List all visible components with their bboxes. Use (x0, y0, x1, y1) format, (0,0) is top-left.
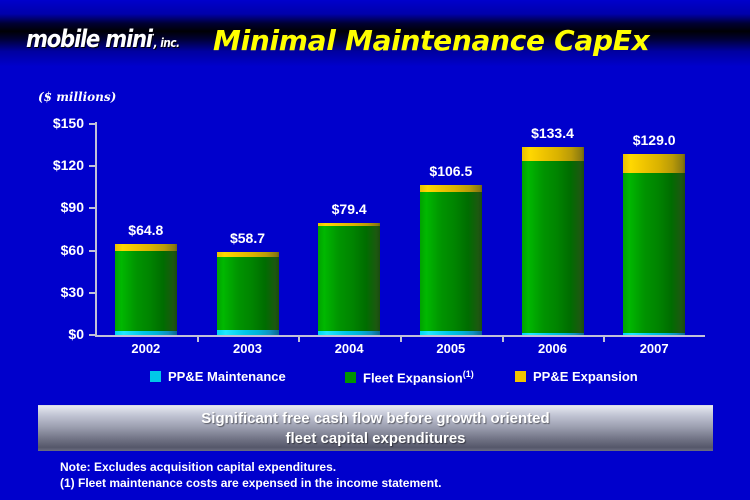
bar-segment[interactable] (115, 244, 177, 251)
bar-group[interactable]: $58.7 (217, 252, 279, 335)
legend-footnote-marker: (1) (463, 369, 474, 379)
slide-header: mobile mini·, inc. Minimal Maintenance C… (0, 0, 750, 78)
x-axis-category-label: 2007 (603, 341, 705, 356)
bar-group[interactable]: $79.4 (318, 223, 380, 335)
bar-segment[interactable] (420, 185, 482, 191)
legend-label: Fleet Expansion(1) (363, 369, 474, 385)
legend-item[interactable]: PP&E Maintenance (150, 369, 286, 384)
bar-segment[interactable] (420, 331, 482, 335)
x-axis-category-label: 2006 (502, 341, 604, 356)
footnote-line: Note: Excludes acquisition capital expen… (60, 459, 441, 475)
bar-total-label: $106.5 (420, 163, 482, 179)
bar-segment[interactable] (115, 251, 177, 331)
callout-banner: Significant free cash flow before growth… (38, 405, 713, 451)
y-axis-tick-label: $60 (0, 242, 84, 258)
bar-segment[interactable] (623, 154, 685, 174)
bar-segment[interactable] (623, 173, 685, 333)
bar-total-label: $129.0 (623, 132, 685, 148)
y-axis-tick-label: $0 (0, 326, 84, 342)
logo-wordmark: mobile mini (26, 25, 152, 53)
bar-segment[interactable] (217, 252, 279, 257)
x-axis-category-label: 2003 (197, 341, 299, 356)
legend-swatch-icon (150, 371, 161, 382)
legend-label: PP&E Expansion (533, 369, 638, 384)
bar-total-label: $64.8 (115, 222, 177, 238)
chart-legend: PP&E MaintenanceFleet Expansion(1)PP&E E… (95, 369, 705, 391)
bar-segment[interactable] (318, 226, 380, 331)
banner-line-2: fleet capital expenditures (285, 429, 465, 449)
footnotes: Note: Excludes acquisition capital expen… (60, 459, 441, 491)
x-axis-category-label: 2002 (95, 341, 197, 356)
legend-swatch-icon (515, 371, 526, 382)
bar-group[interactable]: $106.5 (420, 185, 482, 335)
legend-item[interactable]: PP&E Expansion (515, 369, 638, 384)
company-logo: mobile mini·, inc. (26, 25, 179, 53)
y-axis-tick-label: $90 (0, 199, 84, 215)
y-axis-tick-label: $150 (0, 115, 84, 131)
bar-total-label: $58.7 (217, 230, 279, 246)
banner-line-1: Significant free cash flow before growth… (201, 409, 549, 429)
bar-segment[interactable] (217, 257, 279, 330)
y-axis-tick-label: $30 (0, 284, 84, 300)
y-axis-unit-label: ($ millions) (38, 90, 116, 104)
logo-suffix: , inc. (154, 36, 180, 50)
bar-group[interactable]: $133.4 (522, 147, 584, 335)
bar-segment[interactable] (420, 192, 482, 332)
legend-swatch-icon (345, 372, 356, 383)
x-axis-category-label: 2005 (400, 341, 502, 356)
bar-segment[interactable] (522, 333, 584, 335)
bar-segment[interactable] (318, 331, 380, 335)
y-axis-tick-label: $120 (0, 157, 84, 173)
chart-plot-area: $64.8$58.7$79.4$106.5$133.4$129.0 (95, 124, 705, 335)
bar-total-label: $133.4 (522, 125, 584, 141)
page-title: Minimal Maintenance CapEx (213, 24, 649, 57)
bar-segment[interactable] (217, 330, 279, 335)
bar-total-label: $79.4 (318, 201, 380, 217)
bar-segment[interactable] (522, 147, 584, 160)
legend-item[interactable]: Fleet Expansion(1) (345, 369, 474, 385)
legend-label: PP&E Maintenance (168, 369, 286, 384)
bar-segment[interactable] (318, 223, 380, 226)
bar-group[interactable]: $129.0 (623, 154, 685, 335)
bar-segment[interactable] (115, 331, 177, 335)
x-axis-category-label: 2004 (298, 341, 400, 356)
bar-segment[interactable] (522, 161, 584, 333)
bar-segment[interactable] (623, 333, 685, 335)
bar-group[interactable]: $64.8 (115, 244, 177, 335)
footnote-line: (1) Fleet maintenance costs are expensed… (60, 475, 441, 491)
